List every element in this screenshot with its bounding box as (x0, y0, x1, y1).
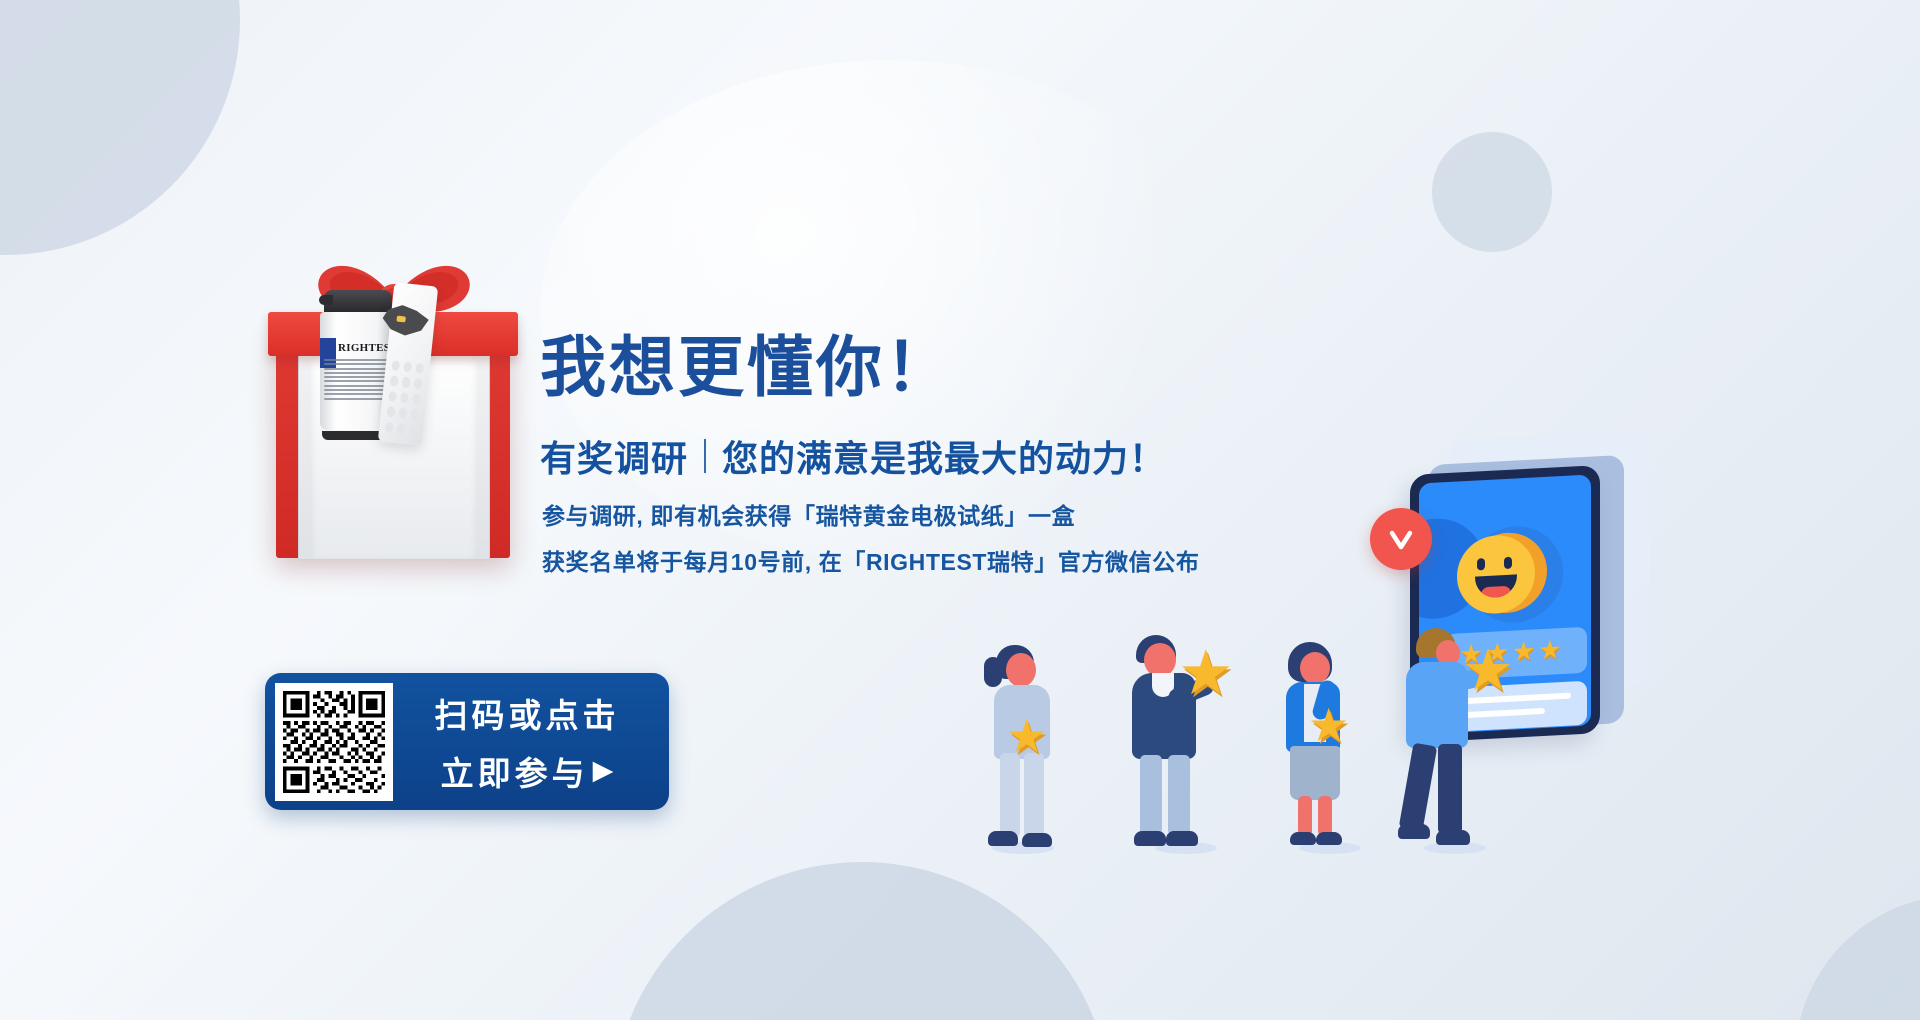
star-prop: ★ (1308, 702, 1349, 748)
person-man-placing-star: ★ (1400, 628, 1510, 850)
cta-label-group: 扫码或点击 立即参与 ▶ (393, 689, 669, 795)
join-survey-button[interactable]: 扫码或点击 立即参与 ▶ (265, 673, 669, 810)
star-prop: ★ (1178, 643, 1234, 705)
check-badge-icon (1370, 508, 1432, 570)
smiley-face-icon (1457, 529, 1543, 620)
strip-dots (385, 360, 424, 435)
bg-circle-bottom-right (1795, 895, 1920, 1020)
cta-line-2-group: 立即参与 ▶ (441, 747, 614, 795)
cta-line-1: 扫码或点击 (435, 689, 620, 737)
review-illustration: ★ ★ ★ ★ ★ ★ (980, 430, 1800, 850)
person-woman-ponytail: ★ (980, 645, 1066, 850)
star-prop: ★ (1462, 642, 1514, 700)
star-prop: ★ (1006, 713, 1047, 759)
subtitle-left: 有奖调研 (540, 430, 688, 482)
cta-line-2: 立即参与 (441, 747, 589, 795)
bg-circle-bottom-center (612, 862, 1112, 1020)
vial-brand-label: RIGHTEST (338, 342, 393, 354)
gift-box: RIGHTEST (268, 236, 518, 561)
promo-banner: RIGHTEST (0, 0, 1920, 1020)
play-arrow-icon: ▶ (593, 755, 614, 786)
star-4: ★ (1512, 637, 1535, 664)
qr-code[interactable] (275, 683, 393, 801)
person-man-holding-star: ★ (1130, 635, 1242, 850)
bg-circle-top-left (0, 0, 240, 255)
star-5: ★ (1538, 636, 1561, 663)
person-woman-phone: ★ (1280, 642, 1380, 850)
page-title: 我想更懂你！ (540, 334, 954, 400)
subtitle-divider (704, 439, 706, 473)
bg-circle-top-right (1432, 132, 1552, 252)
